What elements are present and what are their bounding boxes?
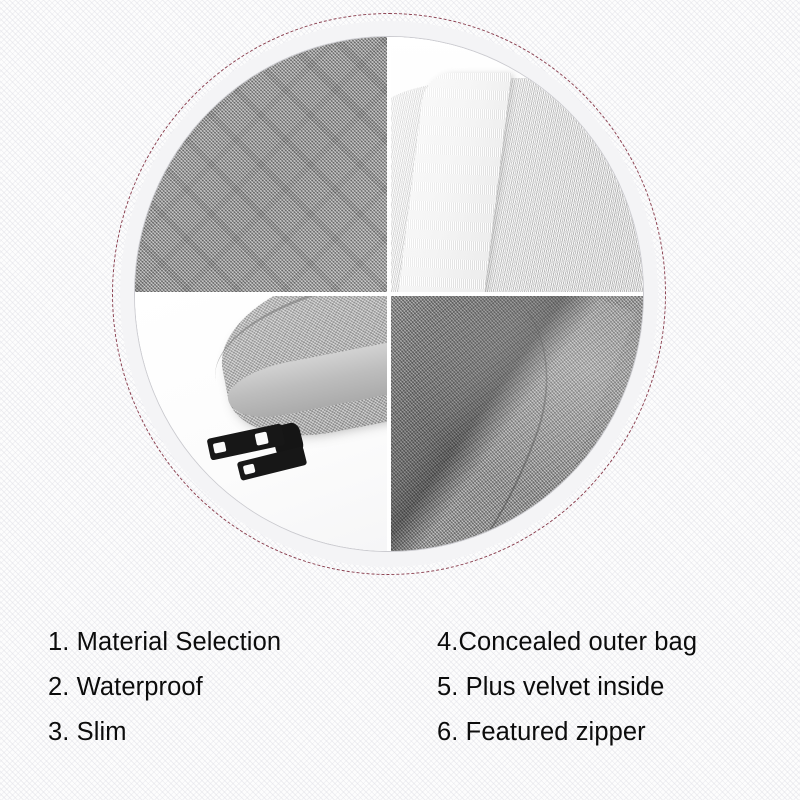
- feature-item-plus-velvet-inside: 5. Plus velvet inside: [389, 665, 800, 710]
- quadrant-grid: [135, 37, 643, 551]
- collage-disc: [135, 37, 643, 551]
- circular-product-collage: [112, 13, 666, 575]
- feature-list-left-column: 1. Material Selection 2. Waterproof 3. S…: [0, 620, 437, 790]
- feature-item-waterproof: 2. Waterproof: [48, 665, 437, 710]
- feature-item-material-selection: 1. Material Selection: [48, 620, 437, 665]
- fabric-highlight-overlay: [391, 296, 643, 551]
- zipper-pull-slot: [213, 441, 227, 454]
- feature-item-concealed-outer-bag: 4.Concealed outer bag: [389, 620, 800, 665]
- feature-item-featured-zipper: 6. Featured zipper: [389, 710, 800, 755]
- quadrant-waterproof-image: [391, 37, 643, 292]
- feature-item-slim: 3. Slim: [48, 710, 437, 755]
- zipper-pull-slot-secondary: [254, 431, 269, 446]
- quadrant-material-selection-image: [135, 37, 387, 292]
- quadrant-featured-zipper-image: [135, 296, 387, 551]
- feature-list-right-column: 4.Concealed outer bag 5. Plus velvet ins…: [389, 620, 800, 790]
- feature-list: 1. Material Selection 2. Waterproof 3. S…: [0, 620, 800, 790]
- quadrant-plus-velvet-inside-image: [391, 296, 643, 551]
- plush-sheen-overlay: [391, 37, 643, 292]
- zipper-pull-slot: [243, 464, 255, 475]
